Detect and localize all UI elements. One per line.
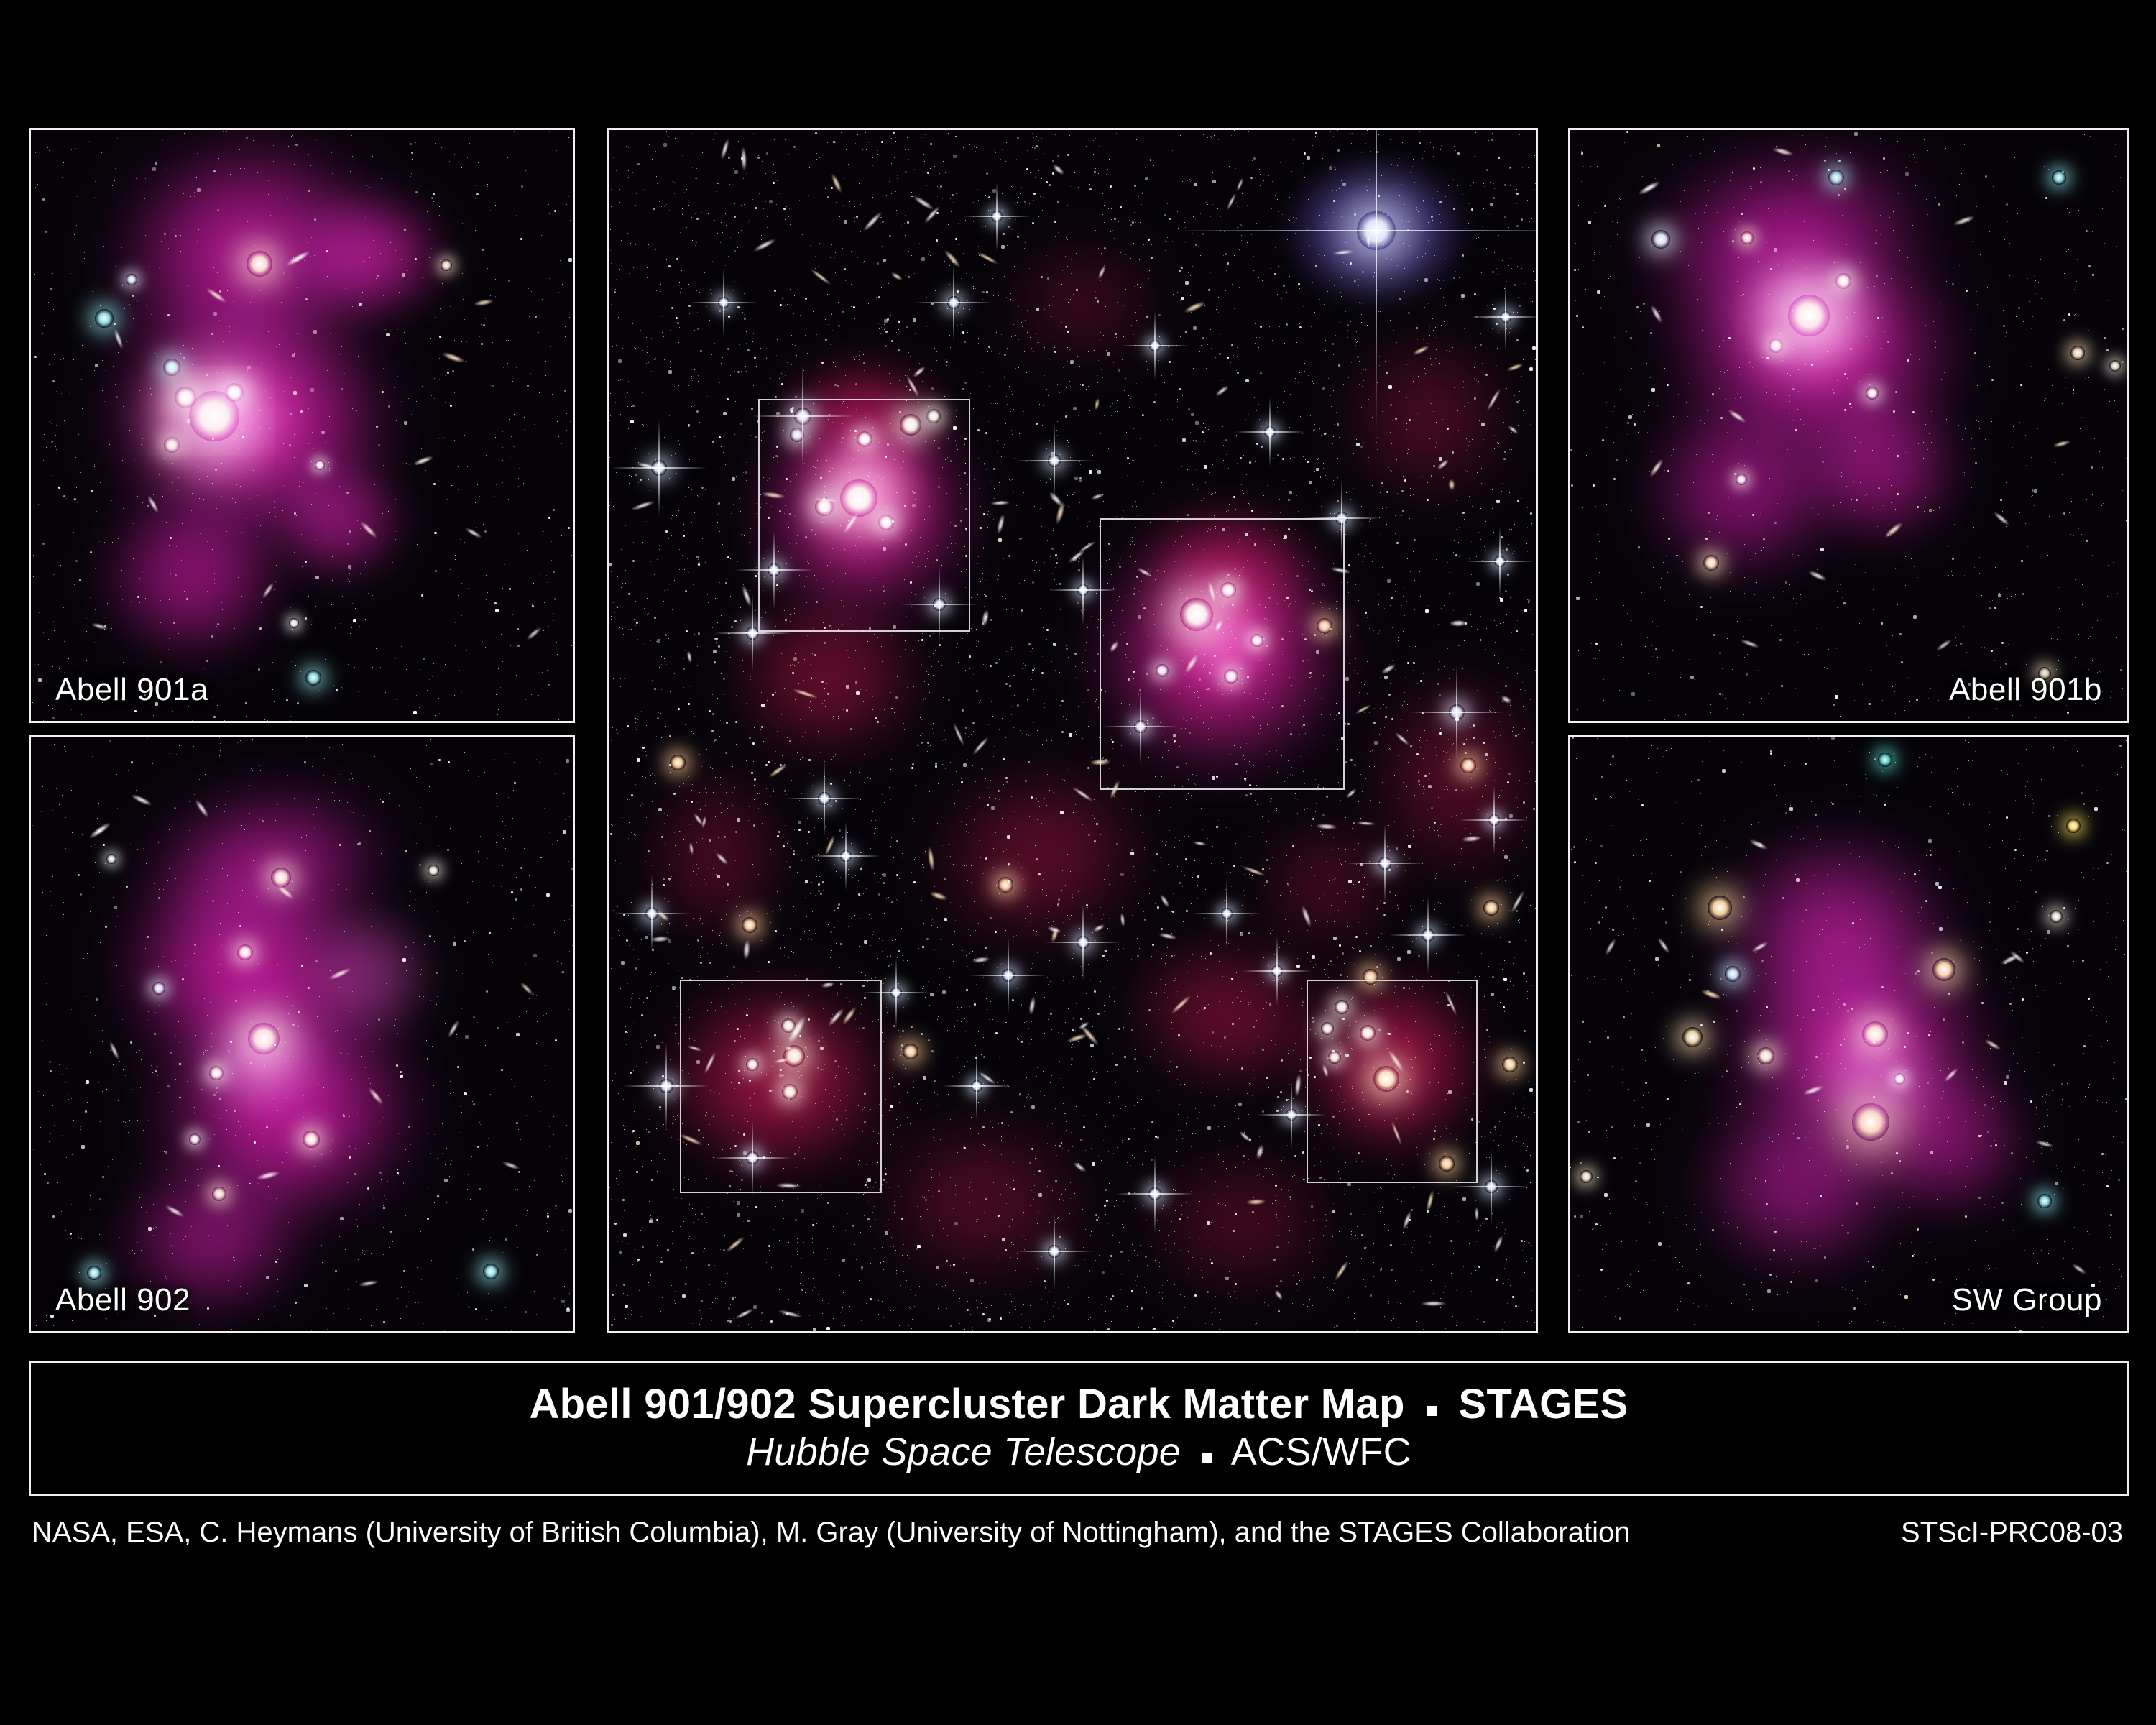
- dark-matter-halo: [1575, 130, 1996, 383]
- lensed-galaxy-arc: [413, 454, 435, 467]
- bright-foreground-star: [962, 182, 1031, 251]
- star-core: [1077, 584, 1089, 596]
- lensed-galaxy-arc: [1807, 569, 1828, 582]
- lensed-galaxy-arc: [1984, 1037, 2002, 1051]
- lensed-galaxy-arc: [1356, 821, 1376, 826]
- elliptical-galaxy: [271, 868, 291, 888]
- lensed-galaxy-arc: [1182, 300, 1207, 315]
- lensed-galaxy-arc: [971, 957, 990, 965]
- lensed-galaxy-arc: [1245, 1198, 1266, 1205]
- lensed-galaxy-arc: [1047, 489, 1065, 508]
- bright-foreground-star: [1015, 422, 1093, 500]
- galaxy-point: [106, 854, 116, 864]
- lensed-galaxy-arc: [1802, 1084, 1825, 1097]
- elliptical-galaxy: [1502, 1057, 1518, 1072]
- dark-matter-halo: [1331, 626, 1536, 928]
- galaxy-point: [1580, 1170, 1593, 1183]
- bright-foreground-star: [811, 822, 880, 891]
- lensed-galaxy-arc: [752, 236, 777, 253]
- bright-foreground-star: [1471, 282, 1536, 351]
- lensed-galaxy-arc: [446, 1018, 461, 1039]
- lensed-galaxy-arc: [1067, 548, 1087, 565]
- galaxy-point: [1866, 387, 1879, 400]
- dark-matter-halo: [1678, 888, 2037, 1204]
- star-core: [1221, 908, 1233, 919]
- star-core: [1378, 857, 1391, 870]
- dark-matter-halo: [87, 932, 486, 1288]
- galaxy-point: [2050, 910, 2063, 923]
- dark-matter-halo: [121, 331, 308, 504]
- lensed-galaxy-arc: [1054, 500, 1066, 525]
- star-core: [1357, 211, 1396, 250]
- lensed-galaxy-arc: [1992, 510, 2011, 526]
- lensed-galaxy-arc: [367, 1086, 384, 1106]
- bright-foreground-star: [1409, 665, 1504, 760]
- figure-title-primary: Abell 901/902 Supercluster Dark Matter M…: [529, 1381, 1404, 1427]
- lensed-galaxy-arc: [693, 812, 704, 826]
- bright-foreground-star: [1015, 1213, 1093, 1290]
- lensed-galaxy-arc: [829, 172, 844, 194]
- credit-text: NASA, ESA, C. Heymans (University of Bri…: [32, 1517, 1630, 1549]
- lensed-galaxy-arc: [862, 210, 884, 233]
- lensed-galaxy-arc: [686, 650, 693, 663]
- lensed-galaxy-arc: [768, 763, 788, 780]
- lensed-galaxy-arc: [1749, 837, 1769, 851]
- star-core: [1148, 1187, 1161, 1200]
- star-core: [947, 296, 960, 309]
- lensed-galaxy-arc: [1067, 1031, 1089, 1044]
- bright-foreground-star: [1346, 824, 1424, 902]
- brightest-group-galaxy: [1852, 1103, 1889, 1141]
- sky-field-abell-901b: [1570, 130, 2127, 721]
- lensed-galaxy-arc: [740, 147, 747, 171]
- elliptical-galaxy: [1862, 1021, 1888, 1047]
- sky-field-abell-901a: [31, 130, 573, 721]
- lensed-galaxy-arc: [631, 499, 655, 511]
- lensed-galaxy-arc: [1255, 1144, 1266, 1159]
- lensed-galaxy-arc: [464, 525, 483, 539]
- lensed-galaxy-arc: [255, 1169, 280, 1181]
- lensed-galaxy-arc: [1507, 425, 1519, 436]
- star-core: [1002, 969, 1015, 982]
- panel-label-sw-group: SW Group: [1952, 1282, 2102, 1318]
- lensed-galaxy-arc: [1294, 1074, 1303, 1098]
- dark-matter-halo: [609, 727, 824, 985]
- figure-subtitle-instrument: ACS/WFC: [1231, 1430, 1411, 1473]
- star-core: [1048, 1245, 1061, 1258]
- lensed-galaxy-arc: [1332, 249, 1355, 255]
- panel-label-abell-902: Abell 902: [55, 1282, 190, 1318]
- lensed-galaxy-arc: [164, 1203, 185, 1219]
- lensed-galaxy-arc: [1097, 264, 1107, 280]
- lensed-galaxy-arc: [977, 1071, 996, 1087]
- figure-title: Abell 901/902 Supercluster Dark Matter M…: [529, 1382, 1628, 1427]
- lensed-galaxy-arc: [1401, 1210, 1414, 1230]
- lensed-galaxy-arc: [1235, 178, 1244, 193]
- panel-abell-902[interactable]: Abell 902: [29, 735, 575, 1333]
- lensed-galaxy-arc: [1354, 704, 1372, 716]
- panel-sw-group[interactable]: SW Group: [1568, 735, 2129, 1333]
- blue-star: [1725, 966, 1741, 982]
- lensed-galaxy-arc: [972, 736, 990, 757]
- blue-star: [2052, 170, 2066, 185]
- lensed-galaxy-arc: [519, 980, 535, 996]
- lensed-galaxy-arc: [113, 328, 125, 350]
- lensed-galaxy-arc: [636, 461, 658, 472]
- lensed-galaxy-arc: [1649, 304, 1664, 324]
- galaxy-point: [1835, 273, 1851, 289]
- bright-foreground-star: [1175, 130, 1536, 432]
- star-field: [31, 130, 32, 131]
- galaxy-point: [1757, 1047, 1774, 1064]
- bright-foreground-star: [969, 937, 1047, 1014]
- lensed-galaxy-arc: [205, 286, 228, 305]
- dark-matter-halo: [247, 436, 433, 608]
- lensed-galaxy-arc: [1751, 939, 1769, 953]
- lensed-galaxy-arc: [1193, 841, 1207, 847]
- lensed-galaxy-arc: [525, 625, 543, 641]
- lensed-galaxy-arc: [1637, 179, 1662, 197]
- bright-foreground-star: [1192, 879, 1261, 948]
- galaxy-point: [225, 383, 244, 402]
- lensed-galaxy-arc: [778, 1308, 803, 1318]
- elliptical-galaxy: [1460, 758, 1476, 773]
- lensed-galaxy-arc: [1214, 384, 1230, 398]
- dark-matter-halo: [175, 981, 347, 1139]
- lensed-galaxy-arc: [1506, 362, 1524, 372]
- lensed-galaxy-arc: [1461, 835, 1481, 842]
- bright-foreground-star: [1243, 937, 1312, 1006]
- lensed-galaxy-arc: [719, 138, 730, 161]
- galaxy-point: [237, 944, 253, 960]
- dark-matter-halo: [33, 130, 460, 448]
- star-field: [1570, 130, 1571, 131]
- lensed-galaxy-arc: [1049, 926, 1060, 944]
- blue-star: [87, 1266, 101, 1280]
- callout-abell-901a[interactable]: [758, 399, 970, 632]
- caption-box: Abell 901/902 Supercluster Dark Matter M…: [29, 1361, 2129, 1496]
- galaxy-point: [2109, 360, 2121, 372]
- blue-star: [2037, 1194, 2052, 1208]
- lensed-galaxy-arc: [108, 1040, 121, 1060]
- galaxy-point: [315, 460, 325, 470]
- lensed-galaxy-arc: [1077, 539, 1097, 553]
- star-core: [651, 460, 667, 476]
- lensed-galaxy-arc: [359, 1279, 379, 1287]
- elliptical-galaxy: [998, 877, 1013, 893]
- lensed-galaxy-arc: [1943, 1066, 1959, 1082]
- galaxy-point: [1894, 1073, 1905, 1085]
- lensed-galaxy-arc: [1238, 1130, 1252, 1143]
- figure-subtitle-telescope: Hubble Space Telescope: [746, 1430, 1181, 1473]
- lensed-galaxy-arc: [275, 883, 295, 901]
- star-field: [609, 130, 609, 131]
- star-core: [1149, 340, 1161, 351]
- lensed-galaxy-arc: [146, 494, 160, 514]
- dark-matter-halo: [1657, 1053, 1944, 1312]
- sky-field-sw-group: [1570, 737, 2127, 1331]
- lensed-galaxy-arc: [1492, 1235, 1504, 1254]
- star-core: [840, 850, 852, 862]
- panel-supercluster-wide-field[interactable]: [607, 128, 1538, 1333]
- dark-matter-halo: [37, 218, 464, 616]
- lensed-galaxy-arc: [688, 842, 694, 855]
- panel-abell-901a[interactable]: Abell 901a: [29, 128, 575, 723]
- release-id: STScI-PRC08-03: [1901, 1517, 2123, 1549]
- bright-foreground-star: [942, 1052, 1011, 1121]
- lensed-galaxy-arc: [1509, 889, 1526, 914]
- star-field: [609, 130, 609, 131]
- lensed-galaxy-arc: [1436, 458, 1450, 471]
- lensed-galaxy-arc: [2053, 438, 2072, 448]
- lensed-galaxy-arc: [1412, 344, 1430, 356]
- elliptical-galaxy: [247, 251, 272, 277]
- star-core: [718, 297, 729, 308]
- star-core: [659, 1079, 673, 1093]
- lensed-galaxy-arc: [734, 1307, 755, 1321]
- lensed-galaxy-arc: [1158, 893, 1171, 909]
- bright-foreground-star: [1120, 311, 1189, 380]
- lensed-galaxy-arc: [2070, 1261, 2088, 1276]
- stellar-halo: [1254, 133, 1498, 328]
- lensed-galaxy-arc: [890, 270, 904, 281]
- lensed-galaxy-arc: [1332, 1259, 1350, 1282]
- star-core: [1485, 1180, 1498, 1193]
- galaxy-point: [428, 865, 439, 876]
- square-bullet-icon-2: [1202, 1453, 1212, 1463]
- galaxy-point: [209, 1066, 224, 1080]
- lensed-galaxy-arc: [1740, 638, 1761, 649]
- star-core: [991, 211, 1003, 222]
- galaxy-point: [1741, 231, 1754, 244]
- figure-title-survey: STAGES: [1459, 1381, 1628, 1427]
- star-core: [1077, 936, 1089, 949]
- panel-label-abell-901b: Abell 901b: [1949, 672, 2102, 708]
- lensed-galaxy-arc: [823, 834, 836, 857]
- lensed-galaxy-arc: [1092, 923, 1105, 933]
- bright-foreground-star: [1044, 903, 1122, 981]
- star-core: [1488, 814, 1500, 826]
- lensed-galaxy-arc: [995, 513, 1006, 535]
- lensed-galaxy-arc: [2035, 1138, 2055, 1148]
- lensed-galaxy-arc: [1500, 694, 1513, 705]
- galaxy-point: [212, 1187, 226, 1201]
- galaxy-point: [1769, 339, 1783, 353]
- lensed-galaxy-arc: [975, 251, 999, 266]
- bright-foreground-star: [1116, 1155, 1194, 1233]
- lensed-galaxy-arc: [1772, 146, 1794, 157]
- lensed-galaxy-arc: [328, 966, 352, 982]
- brightest-cluster-galaxy: [189, 391, 239, 441]
- dark-matter-halo: [89, 737, 446, 996]
- bright-foreground-star: [612, 420, 706, 515]
- galaxy-point: [1703, 555, 1719, 571]
- galaxy-point: [1736, 474, 1747, 485]
- lensed-galaxy-arc: [502, 1159, 521, 1170]
- lensed-galaxy-arc: [1090, 493, 1104, 501]
- bright-foreground-star: [915, 264, 992, 341]
- lensed-galaxy-arc: [441, 350, 466, 364]
- star-core: [1264, 426, 1276, 438]
- dark-matter-halo: [1822, 1028, 2066, 1251]
- lensed-galaxy-arc: [980, 609, 990, 628]
- panel-abell-901b[interactable]: Abell 901b: [1568, 128, 2129, 723]
- lensed-galaxy-arc: [359, 520, 379, 540]
- lensed-galaxy-arc: [130, 793, 153, 808]
- galaxy-point: [189, 1133, 201, 1145]
- bright-foreground-star: [1235, 397, 1304, 466]
- galaxy-point: [1682, 1027, 1703, 1047]
- lensed-galaxy-arc: [1648, 457, 1665, 478]
- lensed-galaxy-arc: [1726, 408, 1747, 425]
- lensed-galaxy-arc: [927, 846, 936, 872]
- lensed-galaxy-arc: [990, 500, 1010, 505]
- lensed-galaxy-arc: [1300, 905, 1313, 929]
- lensed-galaxy-arc: [1027, 996, 1036, 1016]
- bright-foreground-star: [689, 268, 758, 337]
- lensed-galaxy-arc: [1120, 912, 1125, 927]
- lensed-galaxy-arc: [1051, 162, 1066, 176]
- galaxy-point: [1651, 230, 1670, 249]
- dark-matter-halo: [1220, 784, 1435, 985]
- bright-foreground-star: [1460, 786, 1529, 855]
- elliptical-galaxy: [670, 755, 686, 770]
- star-core: [1494, 556, 1506, 567]
- lensed-galaxy-arc: [1072, 1161, 1087, 1174]
- panel-label-abell-901a: Abell 901a: [55, 672, 208, 708]
- callout-abell-901b[interactable]: [1100, 518, 1345, 790]
- elliptical-galaxy: [903, 1044, 918, 1059]
- lensed-galaxy-arc: [1657, 936, 1672, 954]
- lensed-galaxy-arc: [952, 722, 965, 747]
- dark-matter-halo: [261, 166, 476, 346]
- blue-star: [305, 670, 321, 686]
- star-core: [1271, 965, 1283, 977]
- lensed-galaxy-arc: [1425, 1190, 1435, 1213]
- star-core: [1048, 454, 1061, 467]
- lensed-galaxy-arc: [1700, 988, 1722, 1001]
- lensed-galaxy-arc: [1883, 520, 1904, 539]
- lensed-galaxy-arc: [193, 798, 211, 819]
- lensed-galaxy-arc: [650, 936, 671, 942]
- brightest-cluster-galaxy: [1788, 295, 1830, 336]
- star-core: [1500, 311, 1511, 323]
- elliptical-galaxy: [1708, 896, 1732, 920]
- star-core: [971, 1080, 982, 1092]
- lensed-galaxy-arc: [1078, 1021, 1090, 1031]
- dark-matter-halo: [67, 457, 318, 694]
- star-core: [746, 627, 759, 640]
- dark-matter-halo: [1606, 172, 2024, 520]
- lensed-galaxy-arc: [1953, 214, 1976, 227]
- galaxy-point: [289, 618, 299, 628]
- lensed-galaxy-arc: [1393, 731, 1411, 747]
- callout-abell-902[interactable]: [680, 980, 882, 1193]
- lensed-galaxy-arc: [942, 249, 962, 270]
- star-core: [645, 907, 658, 920]
- lensed-galaxy-arc: [701, 815, 707, 828]
- lensed-galaxy-arc: [1603, 937, 1617, 956]
- lensed-galaxy-arc: [1421, 1300, 1447, 1305]
- lensed-galaxy-arc: [740, 584, 753, 608]
- star-core: [890, 987, 902, 998]
- dark-matter-halo: [1764, 360, 1994, 576]
- galaxy-point: [2070, 346, 2085, 360]
- lensed-galaxy-arc: [1315, 823, 1337, 830]
- star-core: [1422, 929, 1434, 942]
- star-core: [1286, 1109, 1297, 1121]
- lensed-galaxy-arc: [1158, 931, 1177, 940]
- lensed-galaxy-arc: [2009, 949, 2026, 965]
- blue-star: [163, 359, 180, 376]
- lensed-galaxy-arc: [1380, 662, 1396, 676]
- lensed-galaxy-arc: [1071, 786, 1094, 804]
- bright-foreground-star: [786, 760, 863, 837]
- lensed-galaxy-arc: [88, 820, 113, 840]
- lensed-galaxy-arc: [285, 249, 311, 268]
- brightest-cluster-galaxy: [248, 1023, 280, 1054]
- lensed-galaxy-arc: [1094, 397, 1100, 410]
- lensed-galaxy-arc: [656, 909, 670, 922]
- yellow-star: [2066, 819, 2081, 833]
- galaxy-point: [126, 274, 137, 285]
- elliptical-galaxy: [742, 917, 757, 933]
- dark-matter-halo: [1606, 364, 1879, 615]
- blue-star: [95, 309, 114, 328]
- lensed-galaxy-arc: [724, 1236, 745, 1254]
- blue-star: [1828, 170, 1844, 185]
- lensed-galaxy-arc: [91, 622, 109, 631]
- elliptical-galaxy: [1483, 900, 1499, 916]
- lensed-galaxy-arc: [261, 581, 276, 599]
- lensed-galaxy-arc: [912, 194, 935, 212]
- galaxy-point: [441, 259, 452, 271]
- dark-matter-halo: [1302, 292, 1536, 543]
- lensed-galaxy-arc: [1170, 993, 1193, 1015]
- lensed-galaxy-arc: [714, 852, 729, 867]
- figure-root: Abell 901a Abell 902 Abell 901b SW Group…: [0, 0, 2156, 1725]
- elliptical-galaxy: [1932, 958, 1955, 981]
- figure-subtitle: Hubble Space Telescope ACS/WFC: [746, 1430, 1411, 1476]
- lensed-galaxy-arc: [905, 374, 921, 397]
- star-field: [1570, 737, 1571, 737]
- lensed-galaxy-arc: [743, 939, 751, 960]
- blue-star: [483, 1264, 499, 1279]
- lensed-galaxy-arc: [1935, 638, 1953, 653]
- lensed-galaxy-arc: [1046, 925, 1062, 934]
- bright-foreground-star: [1389, 896, 1467, 974]
- dark-matter-halo: [968, 209, 1198, 396]
- lensed-galaxy-arc: [474, 298, 494, 308]
- lensed-galaxy-arc: [809, 267, 832, 286]
- square-bullet-icon: [1427, 1406, 1437, 1416]
- lensed-galaxy-arc: [1273, 1289, 1284, 1301]
- galaxy-point: [175, 387, 196, 408]
- dark-matter-halo: [48, 797, 446, 1150]
- credit-row: NASA, ESA, C. Heymans (University of Bri…: [32, 1517, 2123, 1549]
- dark-matter-halo: [1678, 794, 1994, 1067]
- star-core: [1449, 704, 1465, 720]
- lensed-galaxy-arc: [1079, 1023, 1101, 1047]
- dark-matter-halo: [275, 880, 462, 1067]
- callout-sw-group[interactable]: [1307, 980, 1478, 1183]
- lensed-galaxy-arc: [929, 890, 949, 902]
- lensed-galaxy-arc: [1449, 620, 1468, 627]
- galaxy-point: [303, 1131, 320, 1148]
- lensed-galaxy-arc: [792, 688, 819, 700]
- dark-matter-halo: [1707, 227, 1908, 407]
- lensed-galaxy-arc: [1485, 387, 1502, 413]
